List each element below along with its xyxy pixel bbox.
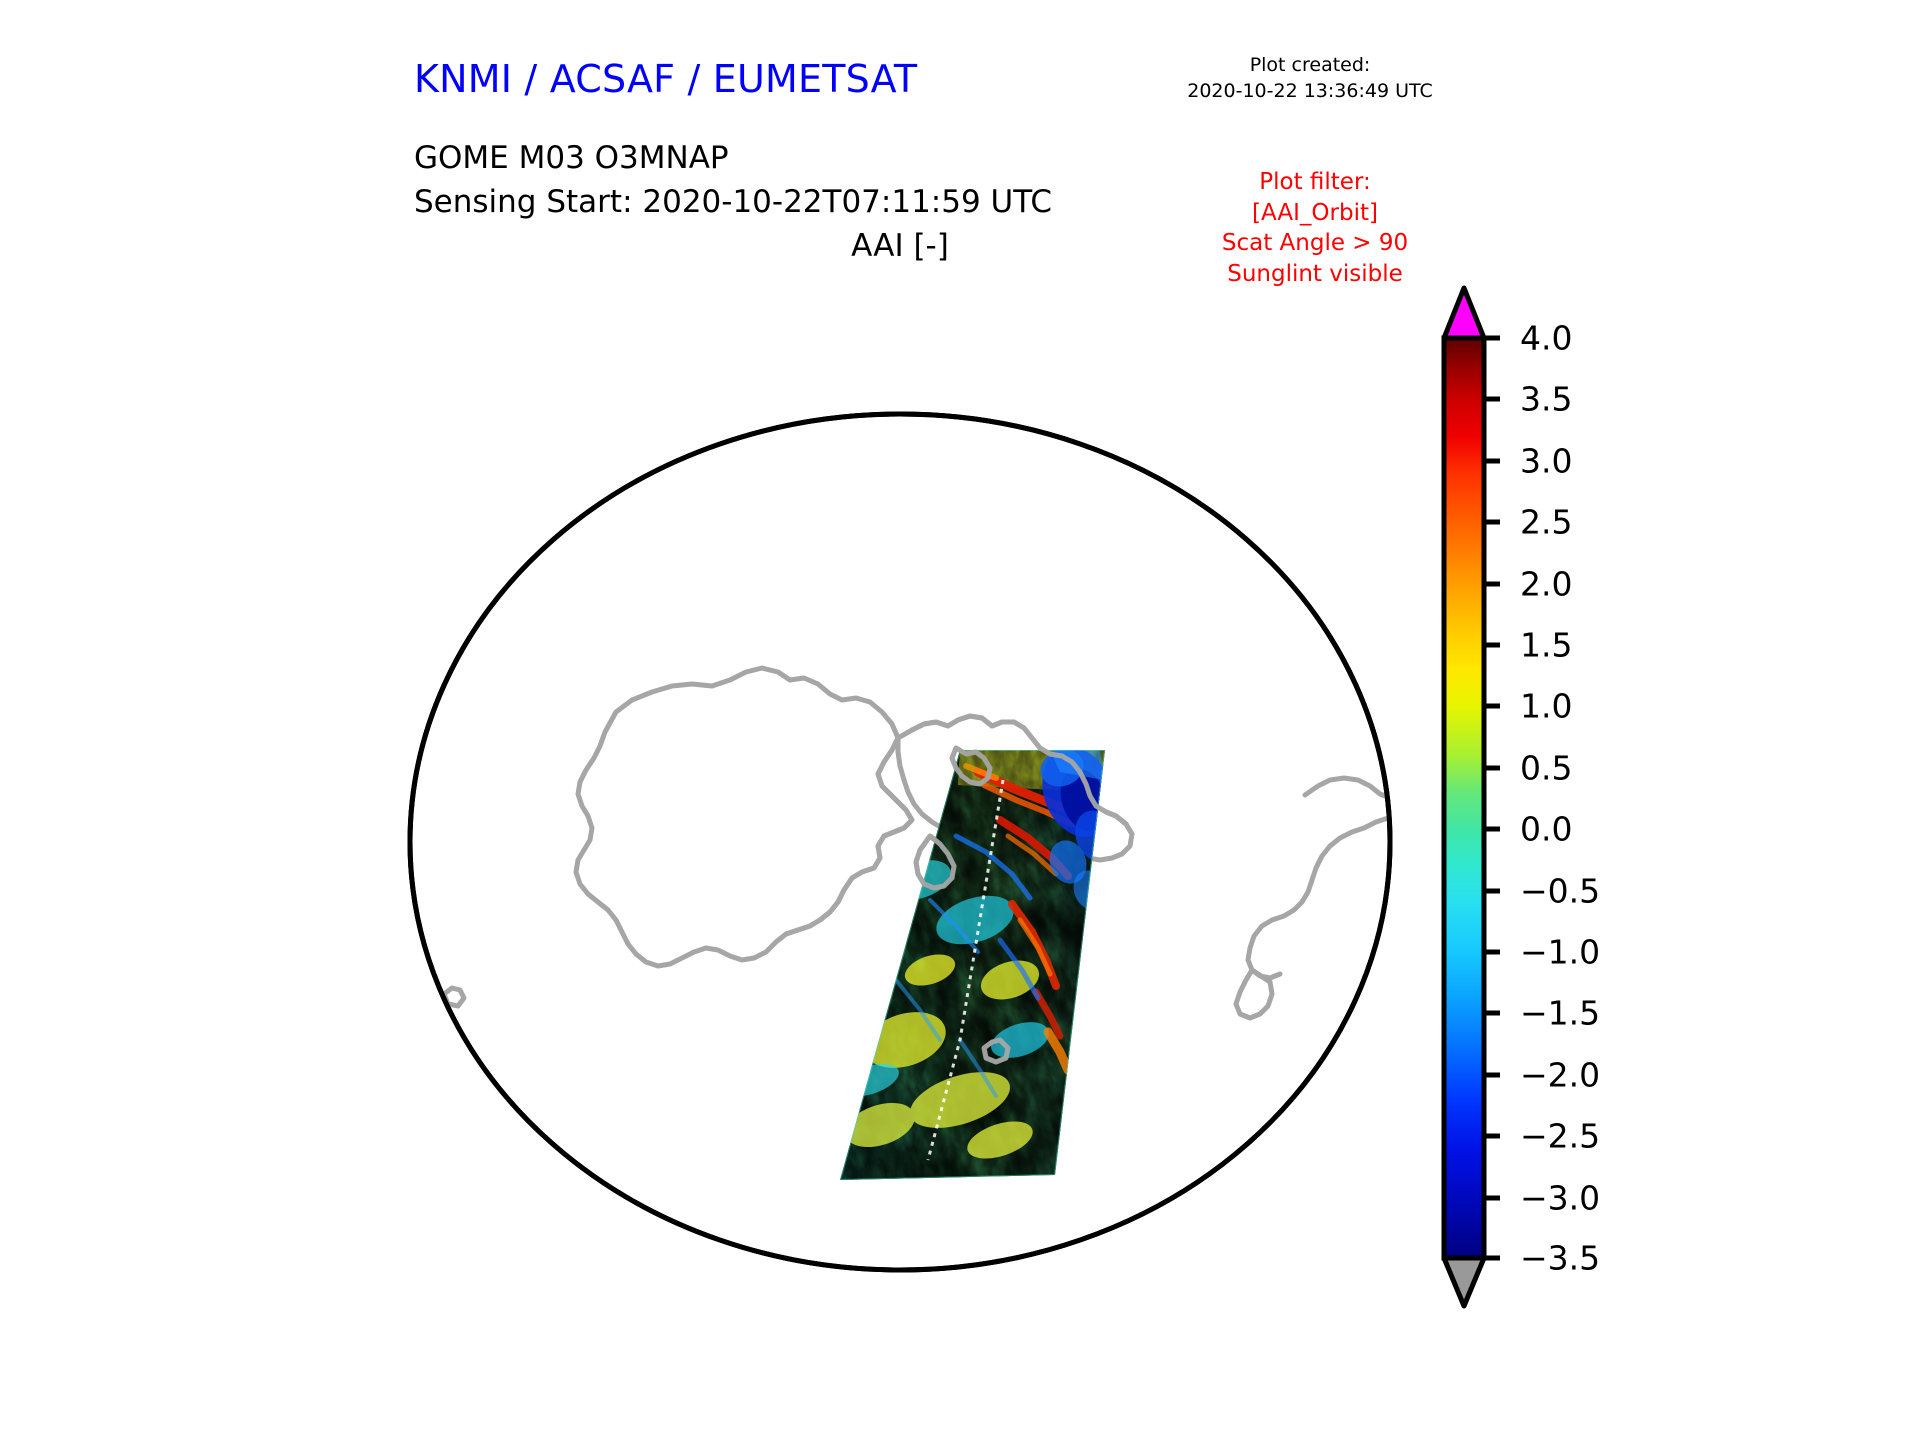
plot-filter-scat-angle: Scat Angle > 90	[1150, 228, 1480, 259]
coast-new-zealand-north	[696, 284, 726, 376]
cb-tick-2: 3.0	[1520, 442, 1572, 481]
colorbar-tick-labels: 4.0 3.5 3.0 2.5 2.0 1.5 1.0 0.5 0.0 −0.5…	[1520, 282, 1670, 1312]
cb-tick-1: 3.5	[1520, 380, 1572, 419]
plot-filter-orbit: [AAI_Orbit]	[1150, 198, 1480, 229]
colorbar-gradient-bar	[1444, 338, 1484, 1258]
cb-tick-3: 2.5	[1520, 503, 1572, 542]
colorbar	[1440, 282, 1500, 1312]
product-title: GOME M03 O3MNAP	[414, 140, 729, 176]
cb-tick-14: −3.0	[1520, 1179, 1600, 1218]
cb-tick-10: −1.0	[1520, 933, 1600, 972]
plot-created-block: Plot created: 2020-10-22 13:36:49 UTC	[1110, 53, 1510, 104]
polar-map	[400, 280, 1400, 1410]
cb-tick-7: 0.5	[1520, 749, 1572, 788]
cb-tick-0: 4.0	[1520, 319, 1572, 358]
cb-tick-5: 1.5	[1520, 626, 1572, 665]
cb-tick-4: 2.0	[1520, 565, 1572, 604]
colorbar-over-range-arrow	[1444, 288, 1484, 338]
cb-tick-9: −0.5	[1520, 872, 1600, 911]
coast-tasmania	[526, 472, 566, 516]
aai-plot-page: KNMI / ACSAF / EUMETSAT Plot created: 20…	[0, 0, 1920, 1440]
cb-tick-13: −2.5	[1520, 1117, 1600, 1156]
cb-tick-11: −1.5	[1520, 994, 1600, 1033]
coast-new-zealand-south	[664, 372, 706, 446]
cb-tick-8: 0.0	[1520, 810, 1572, 849]
cb-tick-6: 1.0	[1520, 687, 1572, 726]
plot-filter-label: Plot filter:	[1150, 167, 1480, 198]
colorbar-under-range-arrow	[1444, 1258, 1484, 1306]
cb-tick-15: −3.5	[1520, 1239, 1600, 1278]
quantity-title: AAI [-]	[700, 228, 1100, 264]
plot-created-value: 2020-10-22 13:36:49 UTC	[1110, 79, 1510, 105]
sensing-start-text: Sensing Start: 2020-10-22T07:11:59 UTC	[414, 184, 1052, 220]
plot-created-label: Plot created:	[1110, 53, 1510, 79]
cb-tick-12: −2.0	[1520, 1056, 1600, 1095]
plot-filter-block: Plot filter: [AAI_Orbit] Scat Angle > 90…	[1150, 167, 1480, 289]
organisation-title: KNMI / ACSAF / EUMETSAT	[414, 57, 917, 101]
